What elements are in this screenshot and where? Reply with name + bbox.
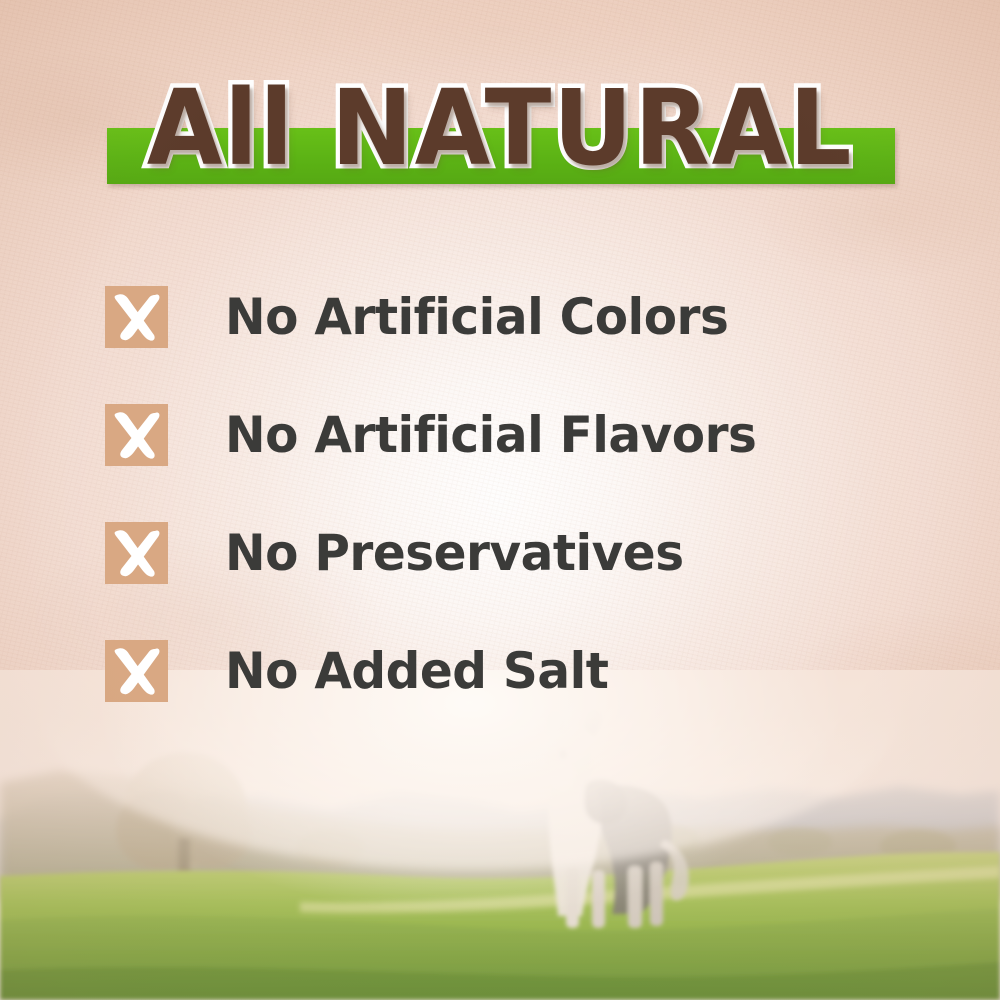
x-mark-glyph bbox=[105, 640, 168, 702]
list-item-label: No Artificial Colors bbox=[225, 291, 728, 343]
claims-list: No Artificial Colors No Artificial Flavo… bbox=[0, 258, 1000, 730]
list-item-label: No Added Salt bbox=[225, 645, 608, 697]
list-item-label: No Artificial Flavors bbox=[225, 409, 756, 461]
list-item: No Added Salt bbox=[0, 612, 1000, 730]
list-item-label: No Preservatives bbox=[225, 527, 684, 579]
x-mark-icon bbox=[105, 522, 168, 584]
list-item: No Artificial Flavors bbox=[0, 376, 1000, 494]
x-mark-icon bbox=[105, 640, 168, 702]
poster-root: All NATURAL No Artificial Colors No Arti… bbox=[0, 0, 1000, 1000]
list-item: No Preservatives bbox=[0, 494, 1000, 612]
page-title: All NATURAL bbox=[30, 72, 970, 184]
x-mark-glyph bbox=[105, 522, 168, 584]
x-mark-icon bbox=[105, 404, 168, 466]
x-mark-glyph bbox=[105, 404, 168, 466]
list-item: No Artificial Colors bbox=[0, 258, 1000, 376]
x-mark-glyph bbox=[105, 286, 168, 348]
title-banner: All NATURAL bbox=[0, 72, 1000, 192]
x-mark-icon bbox=[105, 286, 168, 348]
